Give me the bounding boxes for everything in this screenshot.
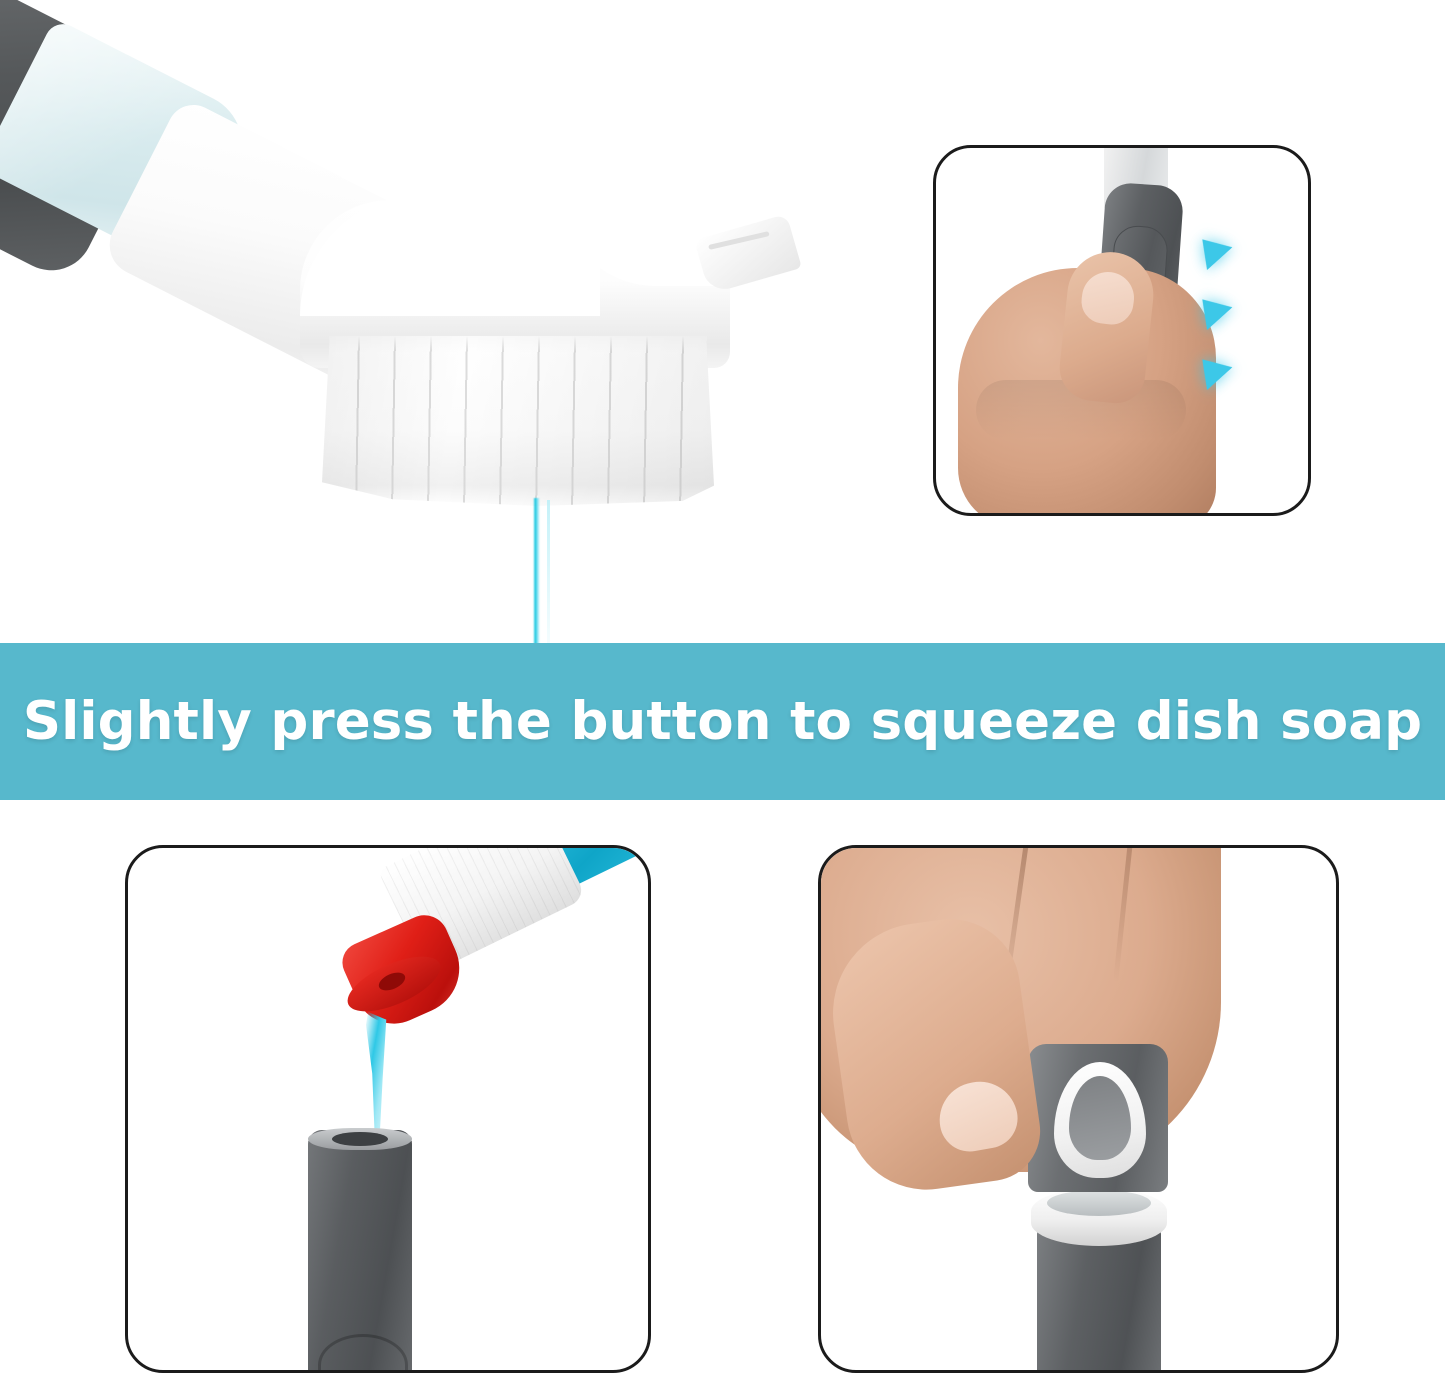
brush-bristles	[322, 336, 714, 506]
reservoir-opening	[332, 1132, 388, 1146]
hand-pressing-button-panel	[933, 145, 1311, 516]
main-brush-photo	[0, 0, 900, 643]
caption-text: Slightly press the button to squeeze dis…	[23, 691, 1422, 752]
soap-stream	[533, 498, 540, 643]
press-arrow-icon	[1190, 228, 1233, 270]
reservoir-collar-inner	[1047, 1190, 1151, 1216]
caption-banner: Slightly press the button to squeeze dis…	[0, 643, 1445, 800]
infographic-canvas: Slightly press the button to squeeze dis…	[0, 0, 1445, 1367]
soap-stream-highlight	[547, 500, 550, 643]
pouring-soap-panel	[125, 845, 651, 1373]
soap-pour-stream	[366, 1012, 392, 1140]
handle-shaft	[1037, 1230, 1161, 1373]
capping-handle-panel	[818, 845, 1339, 1373]
